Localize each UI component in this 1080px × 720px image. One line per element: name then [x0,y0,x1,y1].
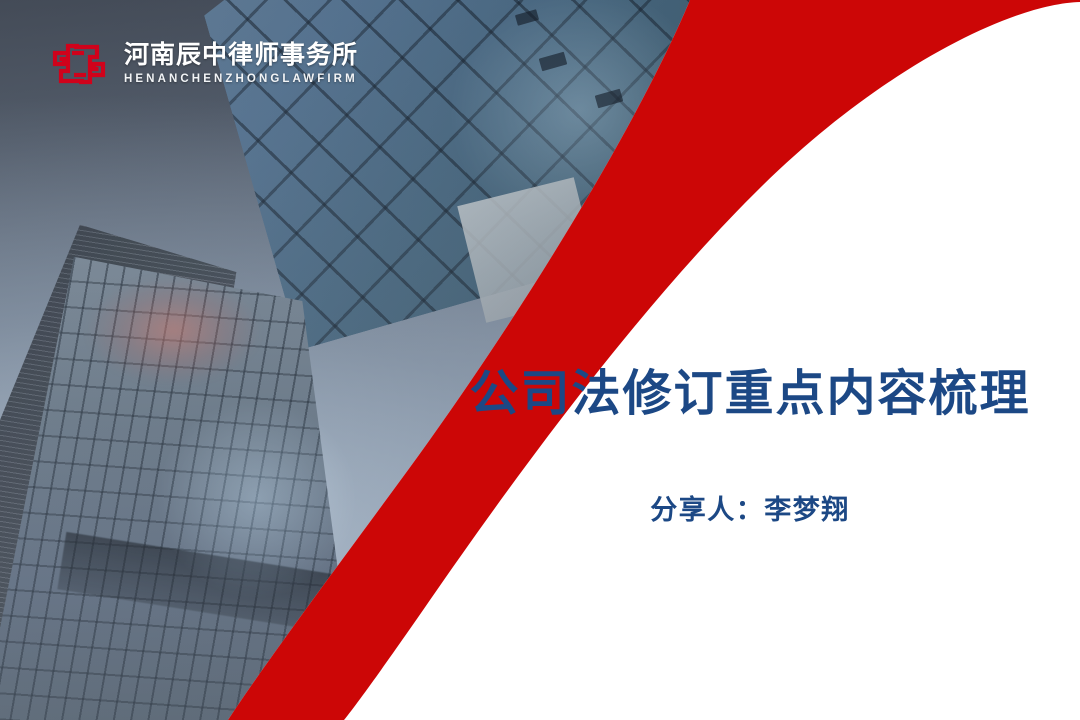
sun-flare [86,268,316,398]
firm-logo-text: 河南辰中律师事务所 HENANCHENZHONGLAWFIRM [124,43,358,86]
henan-chenzhong-maze-mark-icon [48,40,110,88]
background-photo [0,0,1080,720]
firm-name-cn: 河南辰中律师事务所 [124,43,358,68]
window-accent [629,147,655,165]
firm-logo[interactable]: 河南辰中律师事务所 HENANCHENZHONGLAWFIRM [48,40,358,88]
glass-sky-reflection [134,385,397,665]
slide-title: 公司法修订重点内容梳理 [430,368,1070,422]
slide-presenter: 分享人：李梦翔 [430,494,1070,526]
presentation-title-slide: 河南辰中律师事务所 HENANCHENZHONGLAWFIRM 公司法修订重点内… [0,0,1080,720]
firm-name-en: HENANCHENZHONGLAWFIRM [124,74,358,86]
